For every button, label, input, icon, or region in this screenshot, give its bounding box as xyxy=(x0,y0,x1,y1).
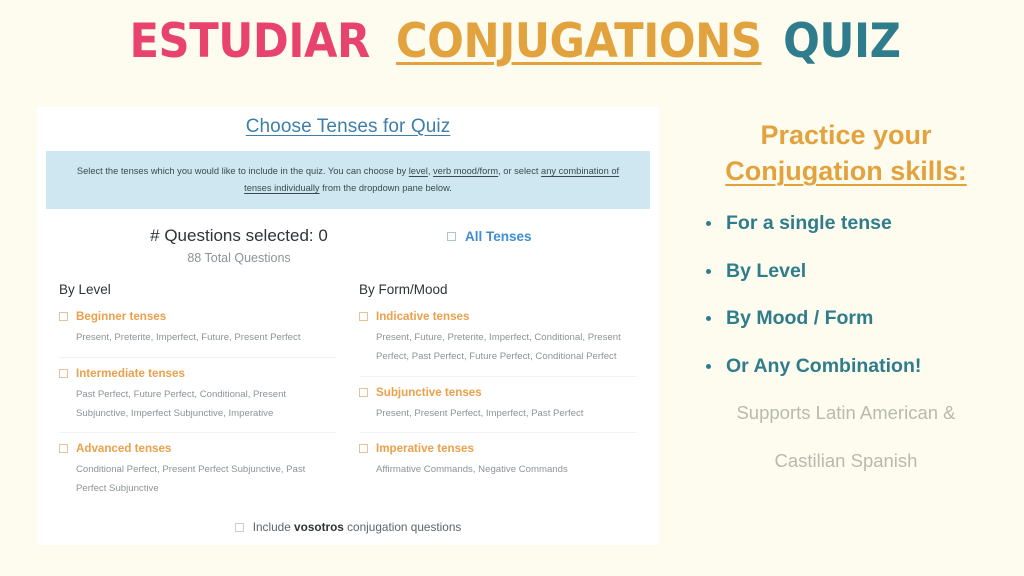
tense-group-imperative: Imperative tenses Affirmative Commands, … xyxy=(359,442,637,489)
checkbox-icon-indicative-tenses[interactable] xyxy=(359,312,368,321)
banner-link-level[interactable]: level xyxy=(409,166,428,176)
right-panel-heading-line2: Conjugation skills: xyxy=(668,156,1024,186)
list-item: By Level xyxy=(704,262,1024,282)
title-word-quiz: QUIZ xyxy=(783,18,900,65)
tense-head-subjunctive[interactable]: Subjunctive tenses xyxy=(359,386,637,399)
tense-head-advanced[interactable]: Advanced tenses xyxy=(59,442,337,455)
tense-list-imperative: Affirmative Commands, Negative Commands xyxy=(359,461,637,480)
quiz-settings-card: Choose Tenses for Quiz Select the tenses… xyxy=(37,107,659,545)
footer-line2: Castilian Spanish xyxy=(668,452,1024,471)
list-item: For a single tense xyxy=(704,214,1024,234)
banner-link-mood-form[interactable]: verb mood/form xyxy=(433,166,498,176)
checkbox-icon-subjunctive-tenses[interactable] xyxy=(359,388,368,397)
right-panel-heading-line1: Practice your xyxy=(668,120,1024,150)
total-questions-label: 88 Total Questions xyxy=(89,251,389,265)
checkbox-icon-imperative-tenses[interactable] xyxy=(359,444,368,453)
vosotros-bold: vosotros xyxy=(294,520,344,534)
column-by-form-mood: By Form/Mood Indicative tenses Present, … xyxy=(359,282,637,517)
tense-label-intermediate: Intermediate tenses xyxy=(76,367,185,380)
tense-group-advanced: Advanced tenses Conditional Perfect, Pre… xyxy=(59,442,337,507)
tense-label-imperative: Imperative tenses xyxy=(376,442,474,455)
banner-text-part4: from the dropdown pane below. xyxy=(320,183,452,193)
tense-head-indicative[interactable]: Indicative tenses xyxy=(359,310,637,323)
tense-head-imperative[interactable]: Imperative tenses xyxy=(359,442,637,455)
banner-text-part3: , or select xyxy=(498,166,541,176)
list-item: Or Any Combination! xyxy=(704,357,1024,377)
tense-list-indicative: Present, Future, Preterite, Imperfect, C… xyxy=(359,329,637,366)
tense-label-indicative: Indicative tenses xyxy=(376,310,469,323)
column-title-by-form-mood: By Form/Mood xyxy=(359,282,637,297)
tense-label-advanced: Advanced tenses xyxy=(76,442,171,455)
checkbox-icon-beginner-tenses[interactable] xyxy=(59,312,68,321)
right-panel: Practice your Conjugation skills: For a … xyxy=(668,120,1024,470)
questions-selected-label: # Questions selected: 0 xyxy=(89,226,389,246)
list-item: By Mood / Form xyxy=(704,309,1024,329)
tense-head-intermediate[interactable]: Intermediate tenses xyxy=(59,367,337,380)
tense-list-subjunctive: Present, Present Perfect, Imperfect, Pas… xyxy=(359,405,637,424)
banner-text-part1: Select the tenses which you would like t… xyxy=(77,166,409,176)
tense-columns: By Level Beginner tenses Present, Preter… xyxy=(37,282,659,517)
checkbox-icon-advanced-tenses[interactable] xyxy=(59,444,68,453)
title-word-estudiar: ESTUDIAR xyxy=(129,18,369,65)
feature-bullet-list: For a single tense By Level By Mood / Fo… xyxy=(668,214,1024,376)
tense-head-beginner[interactable]: Beginner tenses xyxy=(59,310,337,323)
column-by-level: By Level Beginner tenses Present, Preter… xyxy=(59,282,337,517)
vosotros-checkbox-row[interactable]: Include vosotros conjugation questions xyxy=(37,520,659,534)
footer-line1: Supports Latin American & xyxy=(668,404,1024,423)
title-word-conjugations: CONJUGATIONS xyxy=(396,18,762,65)
vosotros-label: Include vosotros conjugation questions xyxy=(253,520,462,534)
tense-group-beginner: Beginner tenses Present, Preterite, Impe… xyxy=(59,310,337,358)
page-title: ESTUDIAR CONJUGATIONS QUIZ xyxy=(0,18,1024,65)
info-banner: Select the tenses which you would like t… xyxy=(46,151,650,209)
vosotros-suffix: conjugation questions xyxy=(344,520,461,534)
vosotros-prefix: Include xyxy=(253,520,294,534)
tense-list-intermediate: Past Perfect, Future Perfect, Conditiona… xyxy=(59,386,337,423)
tense-group-indicative: Indicative tenses Present, Future, Prete… xyxy=(359,310,637,376)
counts-row: # Questions selected: 0 88 Total Questio… xyxy=(37,226,659,274)
all-tenses-checkbox-row[interactable]: All Tenses xyxy=(447,229,532,244)
tense-group-subjunctive: Subjunctive tenses Present, Present Perf… xyxy=(359,386,637,434)
tense-list-advanced: Conditional Perfect, Present Perfect Sub… xyxy=(59,461,337,498)
checkbox-icon-vosotros[interactable] xyxy=(235,523,244,532)
checkbox-icon-all-tenses[interactable] xyxy=(447,232,456,241)
checkbox-icon-intermediate-tenses[interactable] xyxy=(59,369,68,378)
tense-label-subjunctive: Subjunctive tenses xyxy=(376,386,482,399)
tense-list-beginner: Present, Preterite, Imperfect, Future, P… xyxy=(59,329,337,348)
card-heading: Choose Tenses for Quiz xyxy=(37,116,659,138)
tense-label-beginner: Beginner tenses xyxy=(76,310,166,323)
column-title-by-level: By Level xyxy=(59,282,337,297)
tense-group-intermediate: Intermediate tenses Past Perfect, Future… xyxy=(59,367,337,433)
all-tenses-label: All Tenses xyxy=(465,229,532,244)
